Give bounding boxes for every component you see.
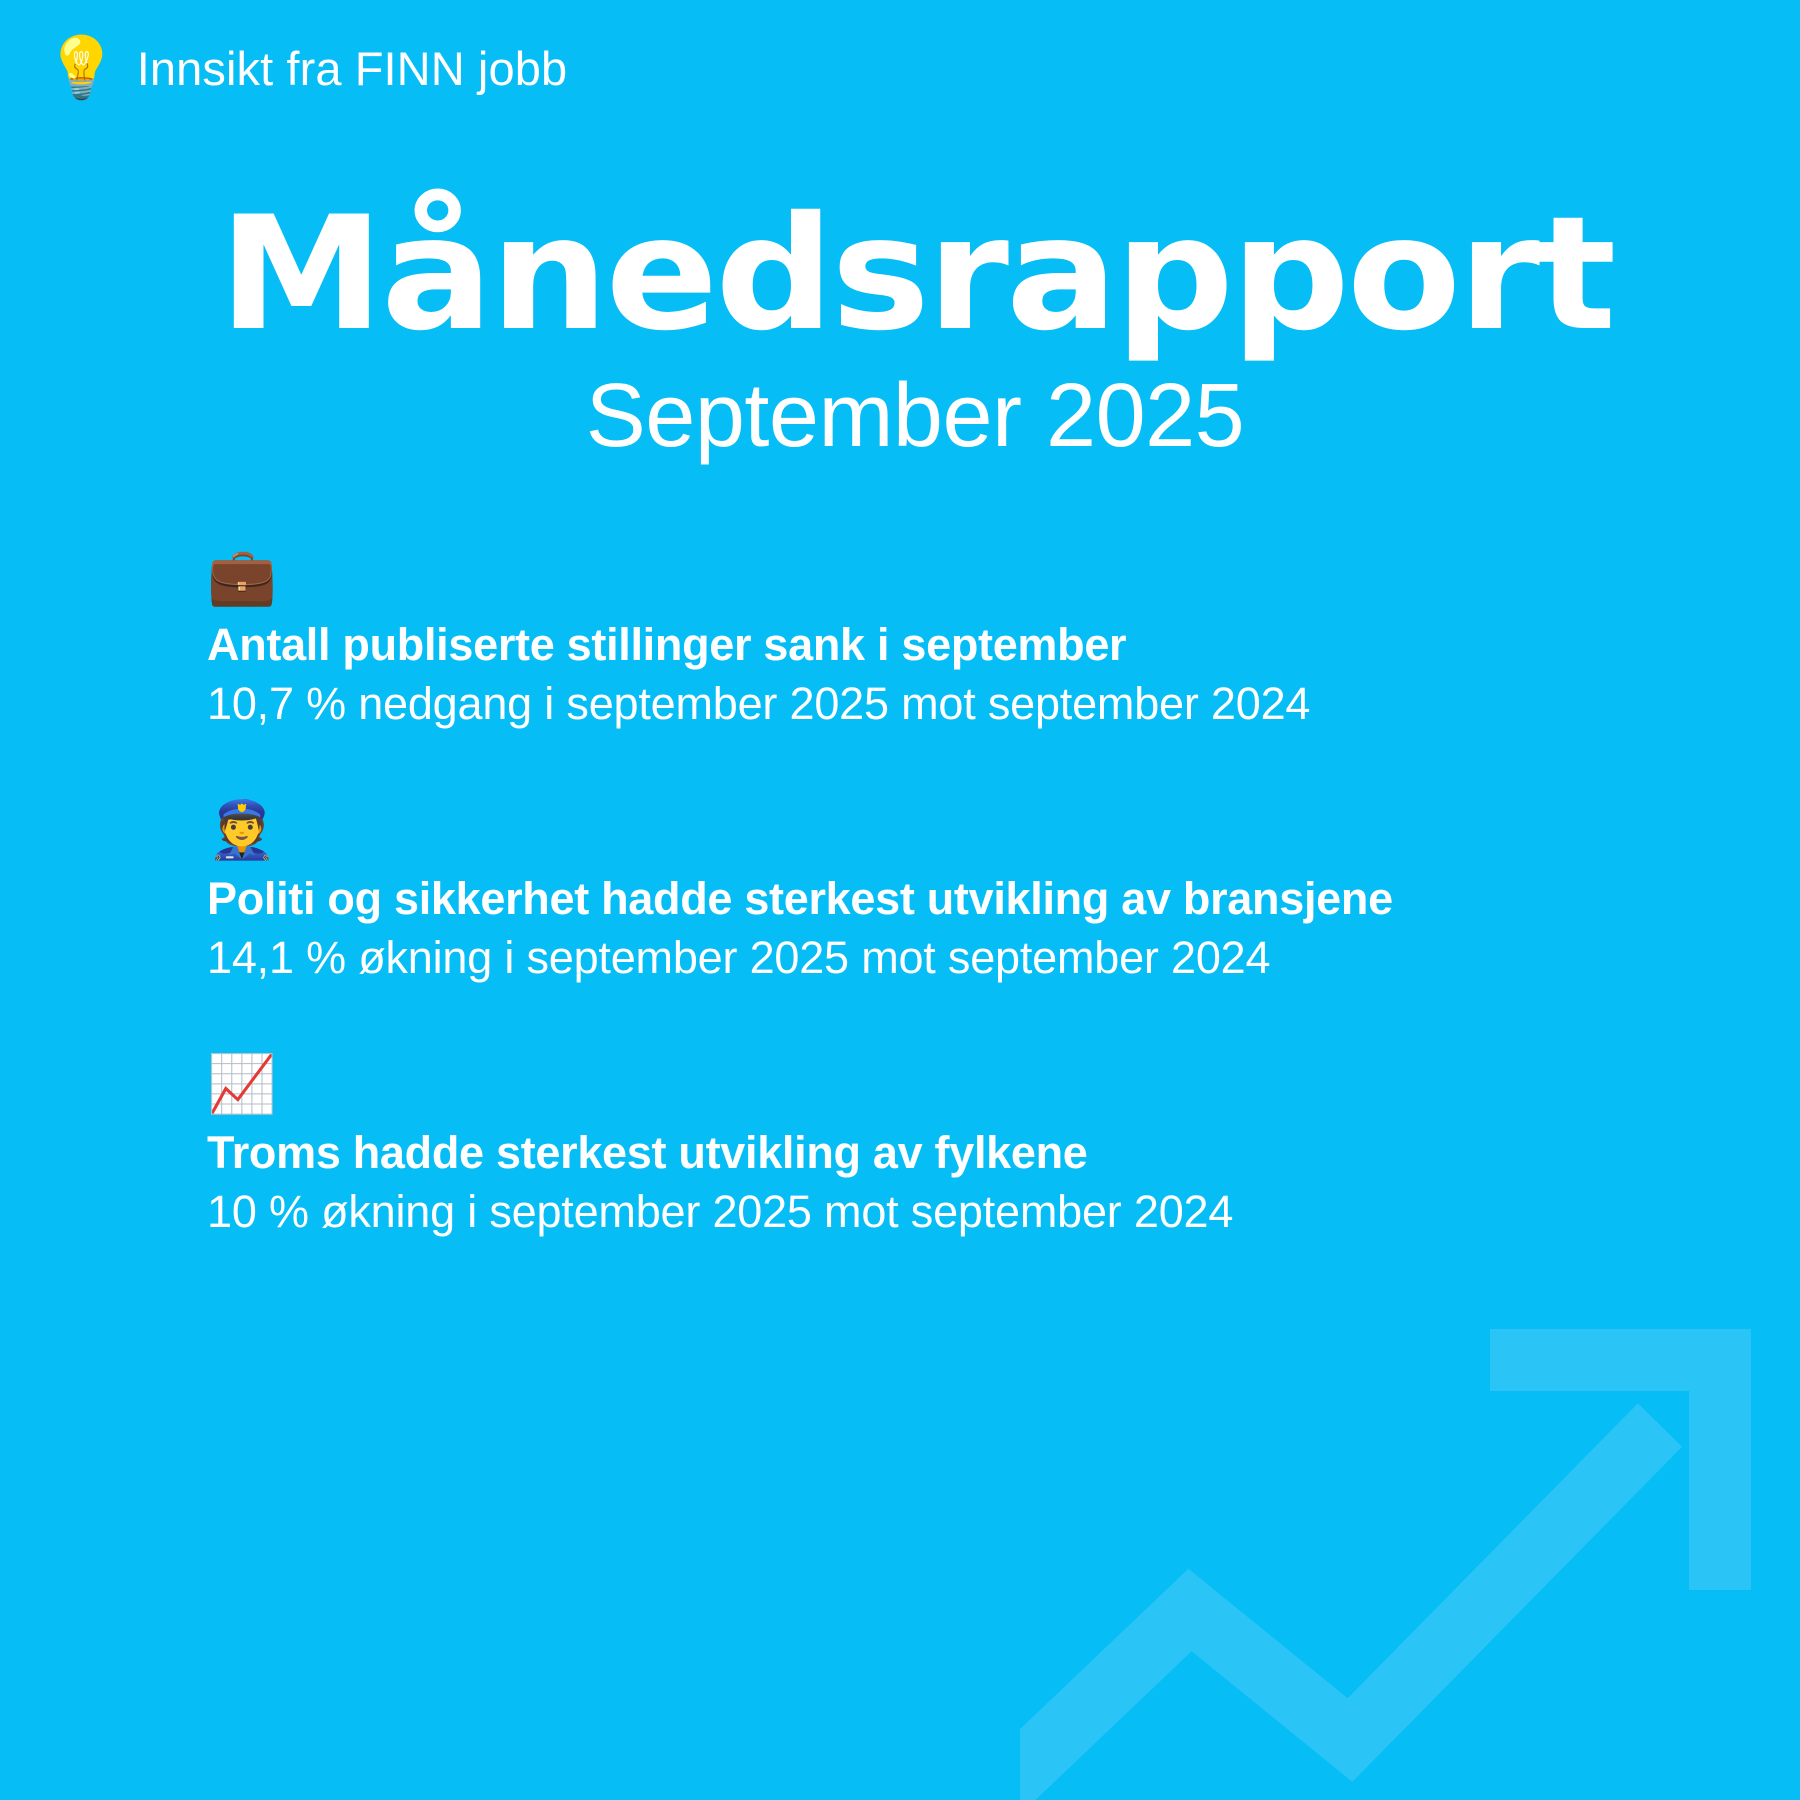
insight-title: Troms hadde sterkest utvikling av fylken… [207,1126,1707,1179]
page-title: Månedsrapport [0,196,1800,353]
report-card: 💡 Innsikt fra FINN jobb Månedsrapport Se… [0,0,1800,1800]
upward-trend-arrow-icon [1020,1210,1800,1800]
insight-title: Politi og sikkerhet hadde sterkest utvik… [207,872,1707,925]
chart-increasing-icon: 📈 [207,1056,1707,1112]
insight-subtitle: 10,7 % nedgang i september 2025 mot sept… [207,677,1707,730]
insight-item: 👮 Politi og sikkerhet hadde sterkest utv… [207,802,1707,984]
briefcase-icon: 💼 [207,548,1707,604]
insight-item: 📈 Troms hadde sterkest utvikling av fylk… [207,1056,1707,1238]
insight-title: Antall publiserte stillinger sank i sept… [207,618,1707,671]
insight-subtitle: 14,1 % økning i september 2025 mot septe… [207,931,1707,984]
page-subtitle: September 2025 [0,371,1800,461]
police-officer-icon: 👮 [207,802,1707,858]
eyebrow: 💡 Innsikt fra FINN jobb [44,38,567,98]
eyebrow-label: Innsikt fra FINN jobb [137,45,567,92]
title-block: Månedsrapport September 2025 [0,196,1800,461]
insights-list: 💼 Antall publiserte stillinger sank i se… [207,548,1707,1239]
lightbulb-icon: 💡 [44,38,119,98]
insight-item: 💼 Antall publiserte stillinger sank i se… [207,548,1707,730]
insight-subtitle: 10 % økning i september 2025 mot septemb… [207,1185,1707,1238]
